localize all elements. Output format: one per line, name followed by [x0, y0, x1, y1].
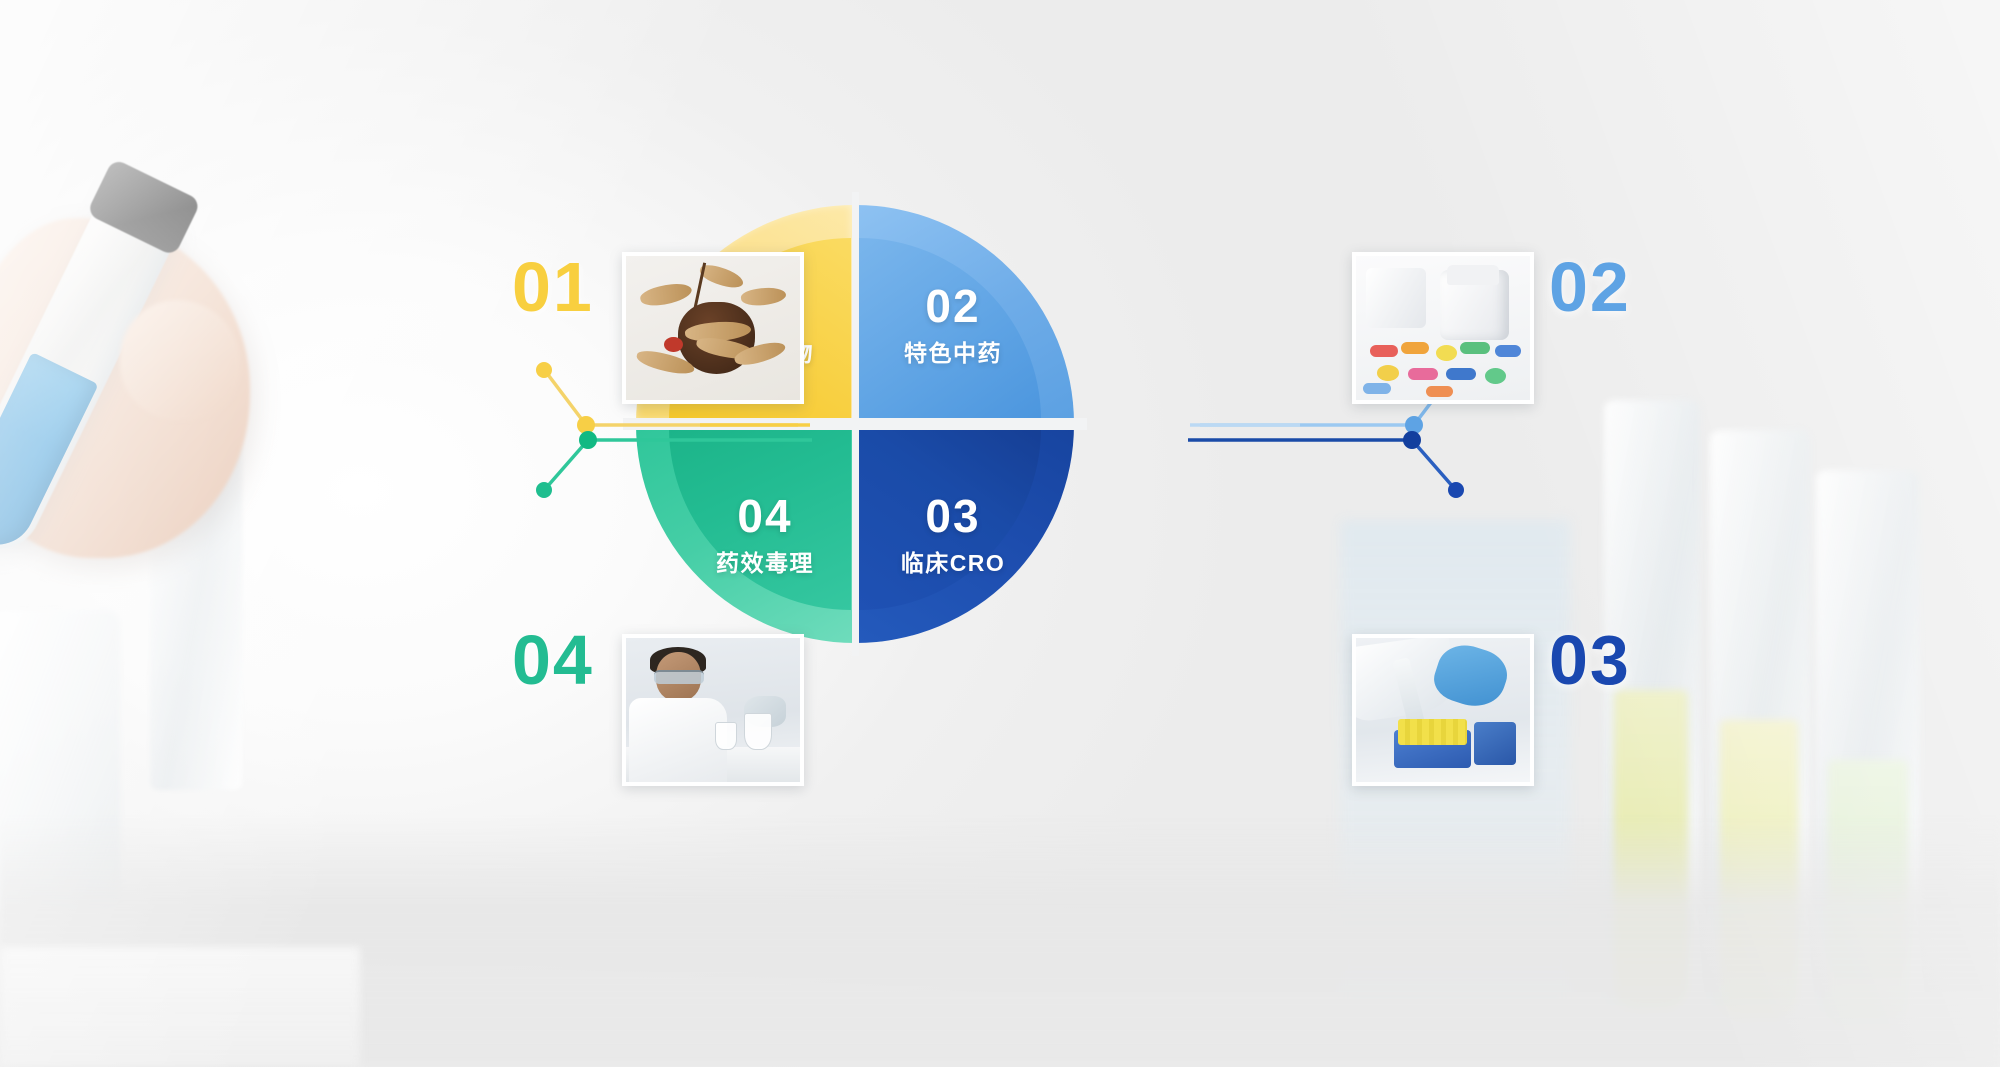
pills-bottle-image [1356, 256, 1530, 400]
corner-number-01: 01 [512, 247, 594, 327]
background-bottom-bar [0, 947, 360, 1067]
corner-number-04: 04 [512, 620, 594, 700]
researcher-lab-image [626, 638, 800, 782]
herbal-medicine-image [626, 256, 800, 400]
thumbnail-researcher-lab-photo[interactable] [622, 634, 804, 786]
clinical-lab-image [1356, 638, 1530, 782]
thumbnail-pills-bottle-photo[interactable] [1352, 252, 1534, 404]
thumbnail-clinical-lab-photo[interactable] [1352, 634, 1534, 786]
corner-number-03: 03 [1549, 620, 1631, 700]
scene-stage: 01 创新药物 02 特色中药 03 临床CRO 04 药效毒理 01 02 0… [0, 0, 2000, 1067]
corner-number-02: 02 [1549, 247, 1631, 327]
background-hand-thumb [120, 300, 240, 420]
thumbnail-herbal-medicine-photo[interactable] [622, 252, 804, 404]
